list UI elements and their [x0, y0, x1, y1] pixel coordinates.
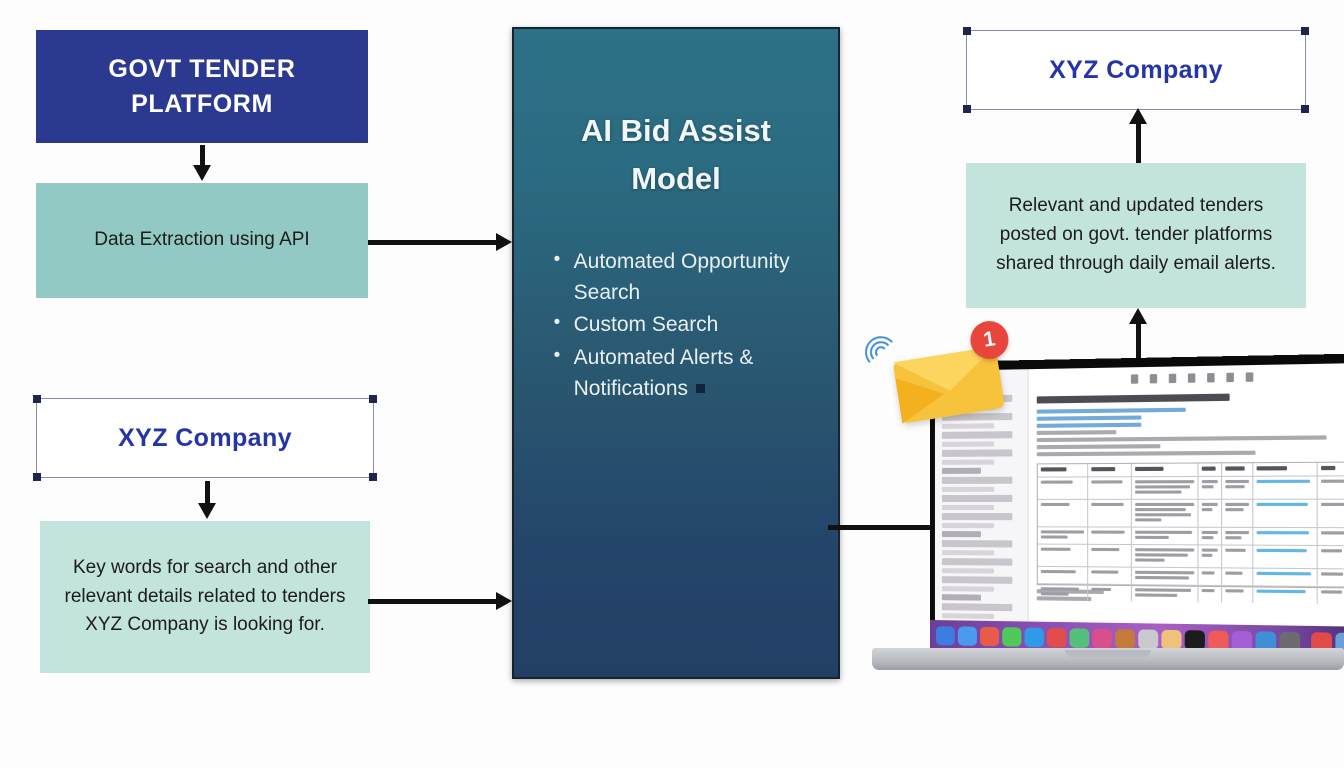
- table-row: [1038, 545, 1344, 570]
- toolbar-icon-archive[interactable]: [1150, 374, 1157, 383]
- toolbar-icon-delete[interactable]: [1131, 374, 1138, 383]
- mail-tender-table: [1037, 462, 1344, 589]
- data-extraction-label: Data Extraction using API: [94, 226, 309, 255]
- selection-handle-bottom-left[interactable]: [963, 105, 971, 113]
- arrow-laptop-to-alerts: [1129, 308, 1148, 364]
- feature-item: Custom Search: [552, 310, 805, 341]
- model-feature-list: Automated Opportunity Search Custom Sear…: [548, 247, 805, 406]
- mail-cc-line: [1037, 415, 1142, 420]
- arrow-extraction-to-model: [368, 233, 512, 252]
- mail-recipient-line: [1037, 408, 1186, 414]
- dock-icon-news[interactable]: [1138, 629, 1158, 649]
- mail-date-line: [1037, 423, 1142, 428]
- feature-item-label: Automated Alerts & Notifications: [574, 346, 754, 400]
- feature-item: Automated Opportunity Search: [552, 247, 805, 308]
- selection-handle-bottom-left[interactable]: [33, 473, 41, 481]
- data-extraction-box: Data Extraction using API: [36, 183, 368, 298]
- selection-handle-top-left[interactable]: [963, 27, 971, 35]
- mail-subject-line: [1037, 394, 1230, 404]
- xyz-company-label-right: XYZ Company: [1049, 56, 1223, 85]
- table-row: [1038, 584, 1344, 604]
- selection-handle-top-right[interactable]: [1301, 27, 1309, 35]
- ai-bid-assist-model-panel: AI Bid Assist Model Automated Opportunit…: [512, 27, 840, 679]
- dock-icon-finder[interactable]: [936, 626, 955, 645]
- dock-icon-messages[interactable]: [1002, 627, 1021, 647]
- table-row: [1038, 476, 1344, 500]
- alerts-description-box: Relevant and updated tenders posted on g…: [966, 163, 1306, 308]
- keywords-label: Key words for search and other relevant …: [58, 554, 352, 641]
- model-title-line1: AI Bid Assist: [533, 107, 818, 155]
- mail-toolbar: [1037, 371, 1344, 391]
- feature-item-with-caret: Automated Alerts & Notifications: [552, 343, 805, 404]
- dock-icon-facetime[interactable]: [1025, 627, 1044, 647]
- model-title-line2: Model: [533, 155, 818, 203]
- xyz-company-box-left[interactable]: XYZ Company: [36, 398, 374, 478]
- xyz-company-box-right[interactable]: XYZ Company: [966, 30, 1306, 110]
- laptop-base: [872, 648, 1344, 670]
- text-cursor-marker: [696, 384, 705, 393]
- arrow-company-to-keywords: [198, 481, 217, 519]
- toolbar-icon-more[interactable]: [1246, 372, 1254, 382]
- dock-icon-terminal[interactable]: [1185, 630, 1205, 650]
- mail-message-pane: [1028, 363, 1344, 632]
- toolbar-icon-flag[interactable]: [1207, 373, 1214, 382]
- toolbar-icon-forward[interactable]: [1169, 374, 1176, 383]
- dock-icon-safari[interactable]: [958, 626, 977, 645]
- dock-icon-notes[interactable]: [1161, 629, 1181, 649]
- dock-icon-music[interactable]: [1092, 628, 1112, 648]
- dock-icon-maps[interactable]: [1070, 628, 1090, 648]
- govt-tender-platform-line2: PLATFORM: [108, 87, 295, 122]
- arrow-platform-to-extraction: [193, 145, 212, 181]
- dock-icon-photos[interactable]: [1047, 627, 1067, 647]
- selection-handle-top-left[interactable]: [33, 395, 41, 403]
- envelope-icon: 1: [891, 332, 1006, 425]
- table-row: [1038, 500, 1344, 529]
- table-row: [1038, 527, 1344, 546]
- selection-handle-bottom-right[interactable]: [369, 473, 377, 481]
- toolbar-icon-reply[interactable]: [1188, 373, 1195, 382]
- govt-tender-platform-line1: GOVT TENDER: [108, 52, 295, 87]
- dock-icon-podcasts[interactable]: [1115, 629, 1135, 649]
- xyz-company-label-left: XYZ Company: [118, 424, 292, 453]
- arrow-alerts-to-company: [1129, 108, 1148, 166]
- laptop-notch: [1065, 650, 1151, 657]
- keywords-box: Key words for search and other relevant …: [40, 521, 370, 673]
- arrow-keywords-to-model: [368, 592, 512, 611]
- toolbar-icon-move[interactable]: [1226, 373, 1234, 382]
- diagram-canvas: GOVT TENDER PLATFORM Data Extraction usi…: [0, 0, 1344, 768]
- model-title: AI Bid Assist Model: [533, 107, 818, 203]
- selection-handle-bottom-right[interactable]: [1301, 105, 1309, 113]
- alerts-description-label: Relevant and updated tenders posted on g…: [984, 192, 1288, 279]
- table-header-row: [1038, 463, 1344, 478]
- dock-icon-contacts[interactable]: [980, 626, 999, 645]
- selection-handle-top-right[interactable]: [369, 395, 377, 403]
- govt-tender-platform-box: GOVT TENDER PLATFORM: [36, 30, 368, 143]
